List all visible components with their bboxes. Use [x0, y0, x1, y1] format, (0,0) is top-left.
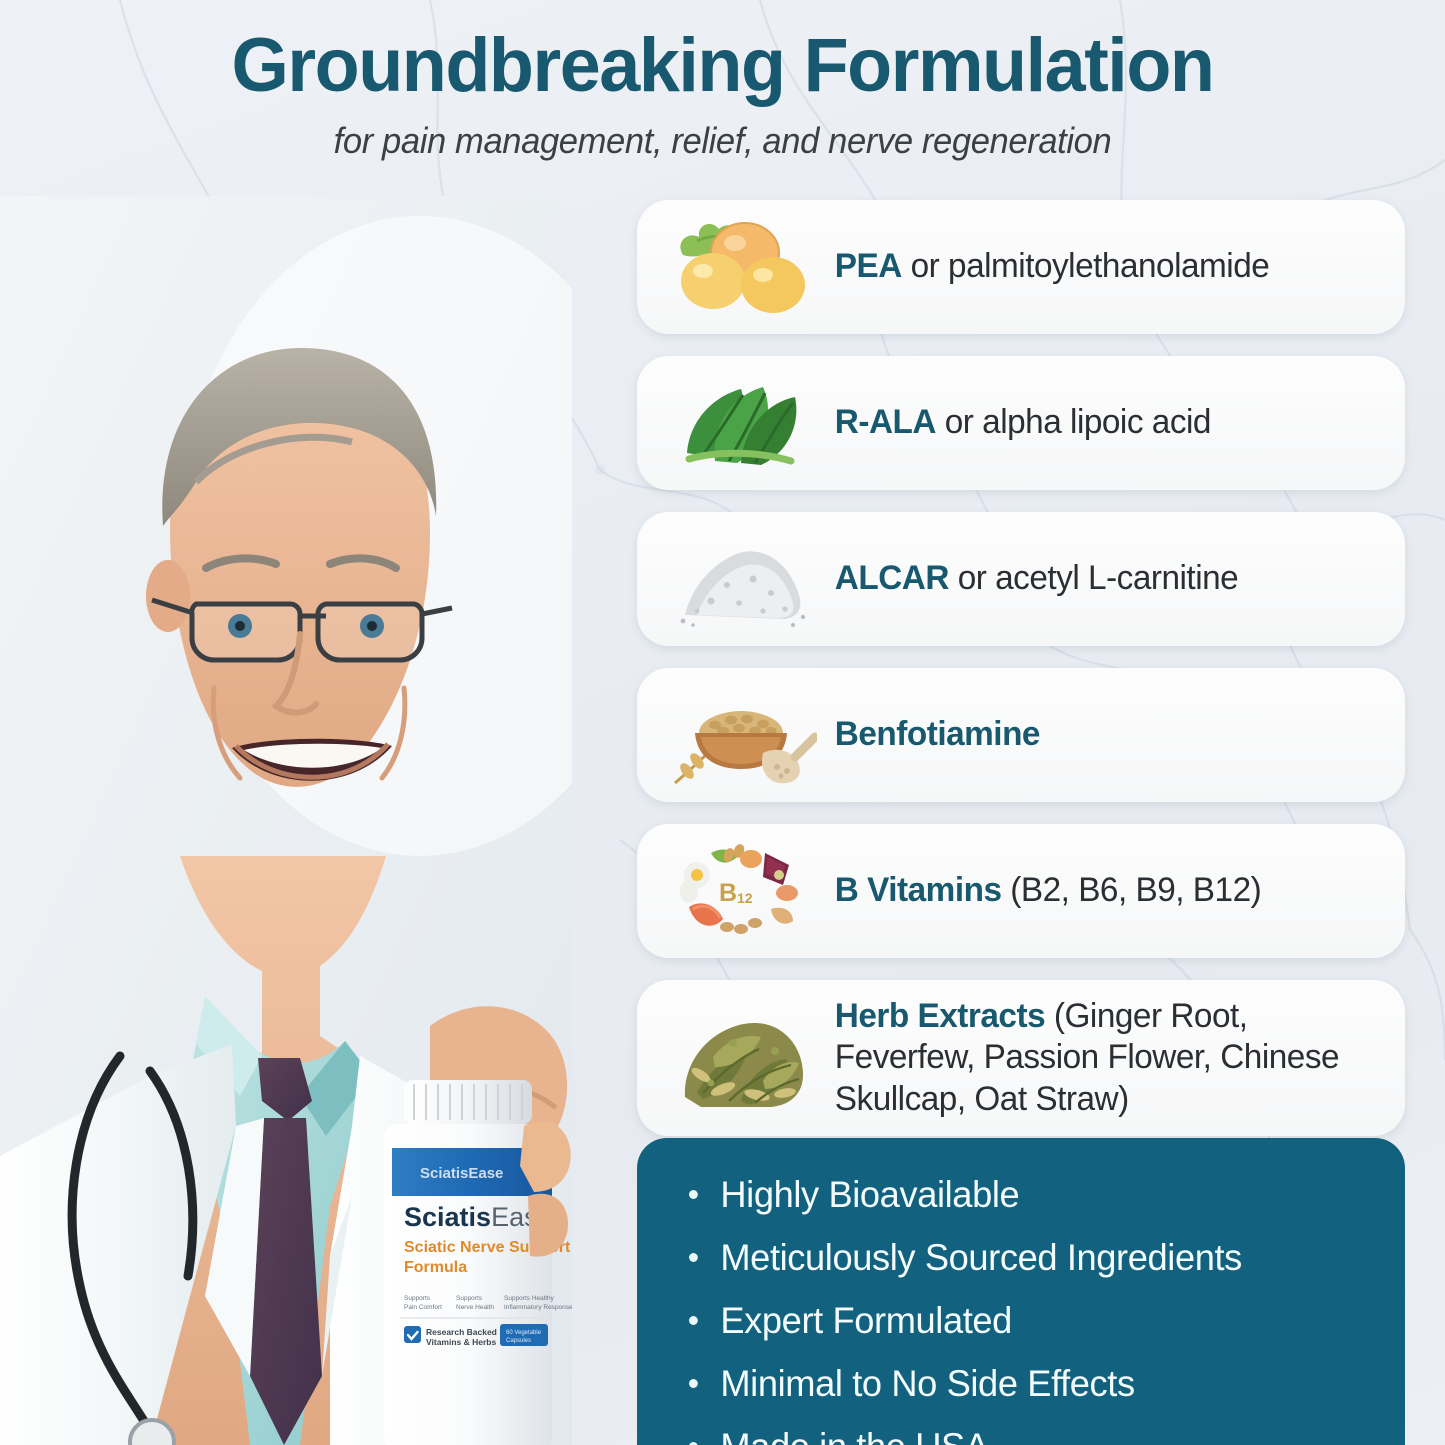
egg-yolks-icon: [659, 208, 825, 326]
ingredient-rest: or alpha lipoic acid: [936, 403, 1211, 441]
benefit-item: Expert Formulated: [689, 1300, 1351, 1342]
svg-text:Research Backed: Research Backed: [426, 1327, 497, 1337]
doctor-photo-panel: SciatisEase SciatisEase® Sciatic Nerve S…: [0, 196, 572, 1445]
svg-text:Nerve Health: Nerve Health: [456, 1304, 494, 1311]
benefit-label: Meticulously Sourced Ingredients: [720, 1237, 1242, 1279]
svg-text:Supports: Supports: [456, 1295, 483, 1302]
ingredient-rest: (B2, B6, B9, B12): [1002, 871, 1262, 909]
svg-text:Supports: Supports: [404, 1295, 431, 1302]
benefit-item: Highly Bioavailable: [689, 1174, 1351, 1216]
benefit-label: Minimal to No Side Effects: [720, 1363, 1134, 1405]
ingredient-card-pea[interactable]: PEA or palmitoylethanolamide: [637, 200, 1405, 334]
ingredient-card-rala[interactable]: R-ALA or alpha lipoic acid: [637, 356, 1405, 490]
svg-text:SciatisEase: SciatisEase: [420, 1165, 503, 1182]
ingredient-card-herb-extracts[interactable]: Herb Extracts (Ginger Root, Feverfew, Pa…: [637, 980, 1405, 1136]
ingredient-lead: Herb Extracts: [835, 997, 1045, 1035]
ingredient-label-rala: R-ALA or alpha lipoic acid: [825, 402, 1211, 443]
ingredient-card-alcar[interactable]: ALCAR or acetyl L-carnitine: [637, 512, 1405, 646]
ingredient-lead: R-ALA: [835, 403, 936, 441]
page-subtitle: for pain management, relief, and nerve r…: [29, 120, 1416, 162]
ingredient-label-b-vitamins: B Vitamins (B2, B6, B9, B12): [825, 870, 1261, 911]
ingredient-lead: ALCAR: [835, 559, 949, 597]
ingredient-lead: PEA: [835, 247, 902, 285]
svg-text:Pain Comfort: Pain Comfort: [404, 1304, 442, 1311]
svg-text:60 Vegetable: 60 Vegetable: [506, 1330, 542, 1336]
ingredient-label-herb-extracts: Herb Extracts (Ginger Root, Feverfew, Pa…: [825, 996, 1376, 1120]
header: Groundbreaking Formulation for pain mana…: [0, 0, 1445, 192]
dried-herbs-icon: [659, 999, 825, 1117]
bullet-icon: [689, 1190, 698, 1199]
bullet-icon: [689, 1316, 698, 1325]
ingredient-label-alcar: ALCAR or acetyl L-carnitine: [825, 558, 1238, 599]
benefit-item: Made in the USA: [689, 1426, 1351, 1445]
page-title: Groundbreaking Formulation: [22, 26, 1424, 106]
spinach-leaves-icon: [659, 364, 825, 482]
svg-text:Vitamins & Herbs: Vitamins & Herbs: [426, 1337, 497, 1347]
benefit-label: Highly Bioavailable: [720, 1174, 1019, 1216]
benefit-item: Meticulously Sourced Ingredients: [689, 1237, 1351, 1279]
ingredient-lead: B Vitamins: [835, 871, 1002, 909]
ingredient-lead: Benfotiamine: [835, 715, 1040, 753]
bullet-icon: [689, 1253, 698, 1262]
benefit-label: Expert Formulated: [720, 1300, 1012, 1342]
benefit-item: Minimal to No Side Effects: [689, 1363, 1351, 1405]
ingredient-card-list: PEA or palmitoylethanolamide R-ALA or al…: [637, 200, 1405, 1158]
benefit-label: Made in the USA: [720, 1426, 988, 1445]
grain-bowl-icon: [659, 676, 825, 794]
ingredient-card-b-vitamins[interactable]: B 12 B Vitamins (B2, B6, B9, B12): [637, 824, 1405, 958]
svg-text:Inflammatory Response: Inflammatory Response: [504, 1304, 572, 1311]
svg-text:Supports Healthy: Supports Healthy: [504, 1295, 555, 1302]
bullet-icon: [689, 1379, 698, 1388]
ingredient-rest: or acetyl L-carnitine: [949, 559, 1238, 597]
svg-text:12: 12: [737, 890, 753, 906]
ingredient-rest: or palmitoylethanolamide: [902, 247, 1269, 285]
ingredient-card-benfotiamine[interactable]: Benfotiamine: [637, 668, 1405, 802]
svg-text:Formula: Formula: [404, 1259, 467, 1276]
benefits-panel: Highly Bioavailable Meticulously Sourced…: [637, 1138, 1405, 1445]
b12-foods-icon: B 12: [659, 832, 825, 950]
white-powder-icon: [659, 520, 825, 638]
infographic-page: Groundbreaking Formulation for pain mana…: [0, 0, 1445, 1445]
svg-text:Capsules: Capsules: [506, 1338, 531, 1344]
ingredient-label-benfotiamine: Benfotiamine: [825, 714, 1040, 755]
svg-text:B: B: [719, 879, 737, 907]
doctor-photo-illustration: SciatisEase SciatisEase® Sciatic Nerve S…: [0, 196, 572, 1445]
ingredient-label-pea: PEA or palmitoylethanolamide: [825, 246, 1269, 287]
